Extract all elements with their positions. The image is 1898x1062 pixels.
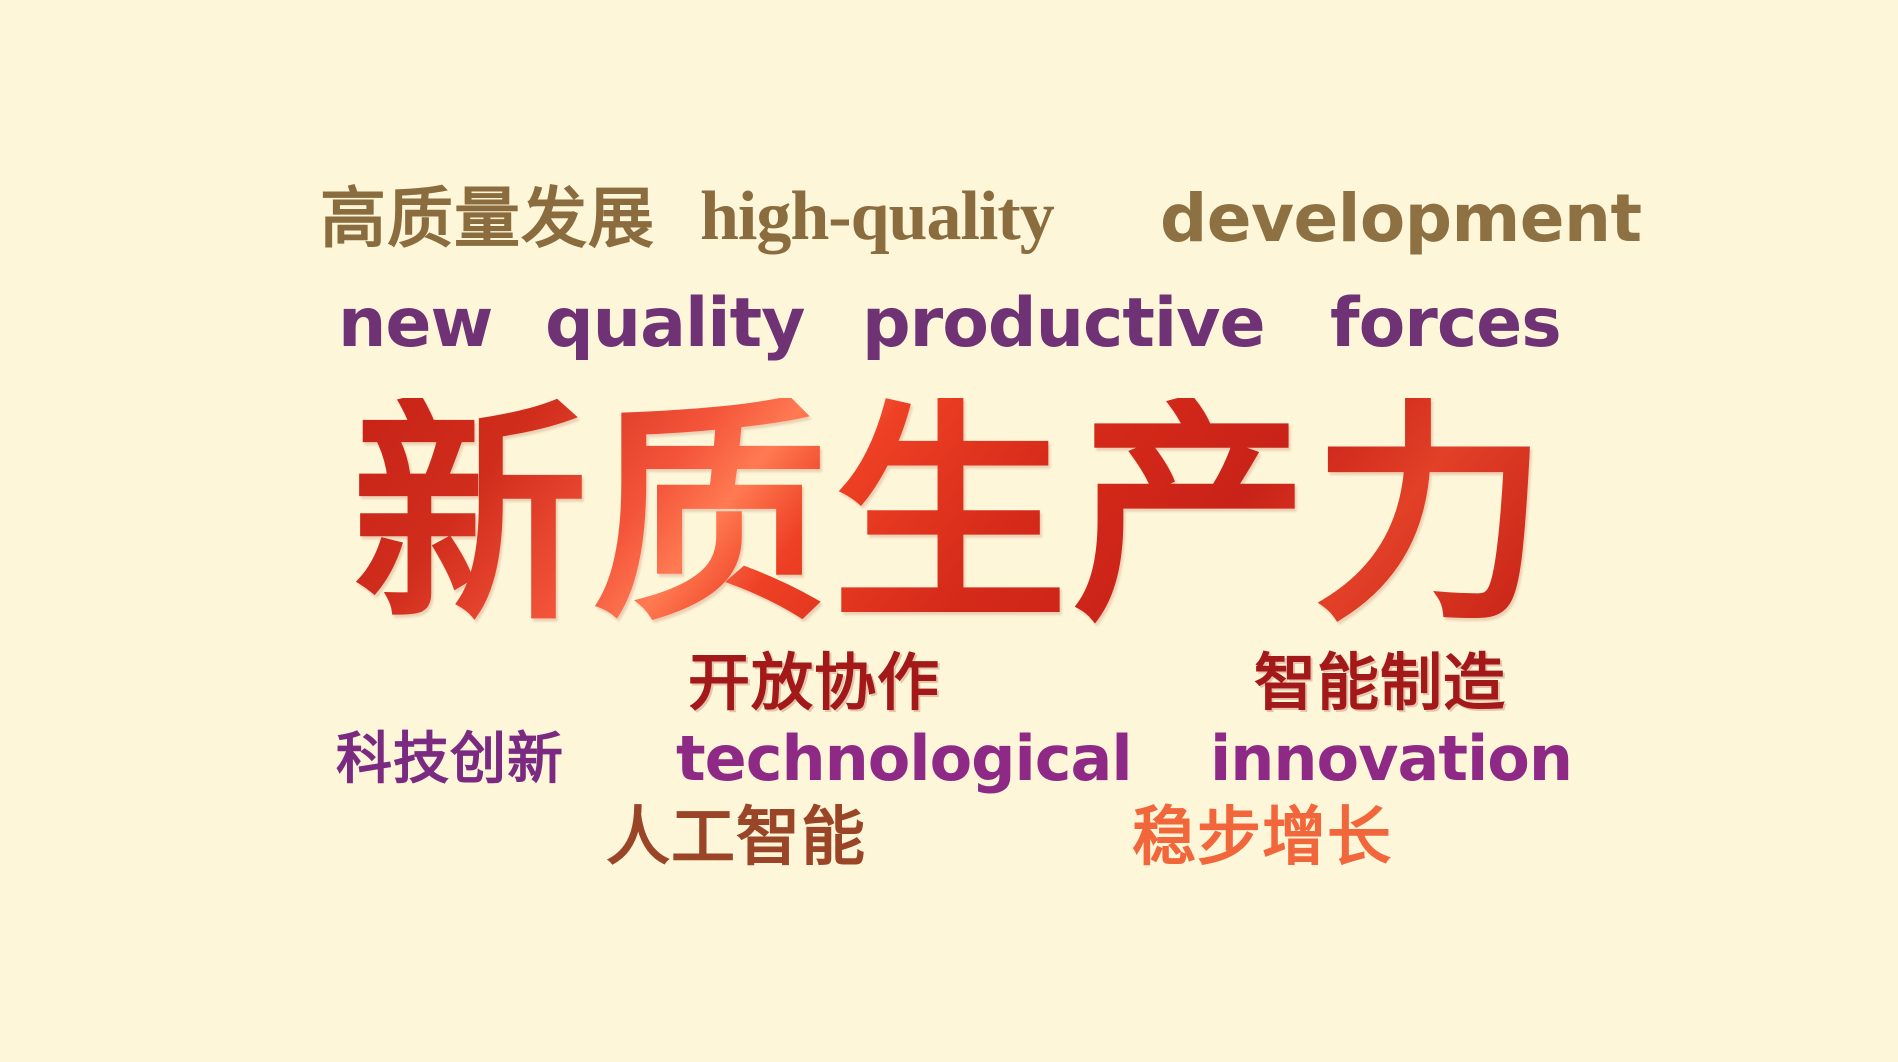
word-gaozhiliang-fazhan: 高质量发展 bbox=[320, 186, 655, 252]
word-cloud-canvas: 高质量发展 high-quality development new quali… bbox=[0, 0, 1898, 1062]
word-new: new bbox=[338, 290, 492, 358]
headline-xin-zhi-sheng-chan-li: 新质生产力 bbox=[352, 398, 1552, 634]
word-zhineng-zhizao: 智能制造 bbox=[1254, 652, 1506, 714]
word-development: development bbox=[1160, 186, 1642, 252]
word-innovation: innovation bbox=[1210, 728, 1572, 790]
word-productive: productive bbox=[862, 290, 1265, 358]
word-forces: forces bbox=[1330, 290, 1561, 358]
word-wenbu-zengzhang: 稳步增长 bbox=[1132, 806, 1392, 870]
word-kaifang-xiezuo: 开放协作 bbox=[688, 652, 940, 714]
word-rengong-zhineng: 人工智能 bbox=[606, 806, 866, 870]
word-high-quality: high-quality bbox=[700, 182, 1054, 252]
word-quality: quality bbox=[545, 290, 804, 358]
word-technological: technological bbox=[676, 728, 1132, 790]
word-keji-chuangxin: 科技创新 bbox=[336, 732, 564, 788]
